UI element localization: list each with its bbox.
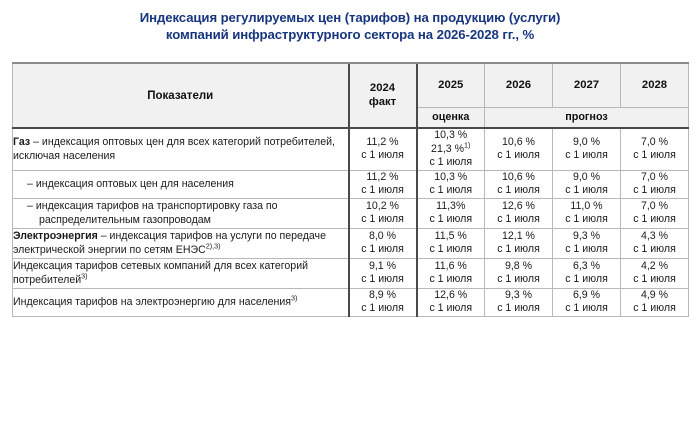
- table-cell: 10,6 %с 1 июля: [485, 170, 553, 198]
- row-label-text: – индексация оптовых цен для всех катего…: [13, 136, 335, 163]
- cell-line: с 1 июля: [621, 302, 688, 316]
- cell-line: с 1 июля: [621, 243, 688, 257]
- column-header-indicators: Показатели: [13, 63, 349, 128]
- cell-line: с 1 июля: [621, 149, 688, 163]
- table-cell: 4,9 %с 1 июля: [621, 288, 689, 316]
- table-cell: 9,8 %с 1 июля: [485, 258, 553, 288]
- indexation-table: Показатели 2024 факт 2025 2026 2027 2028…: [12, 62, 689, 317]
- indexation-table-container: Показатели 2024 факт 2025 2026 2027 2028…: [12, 62, 688, 317]
- cell-line: с 1 июля: [485, 213, 552, 227]
- cell-line: с 1 июля: [418, 156, 485, 170]
- table-row: Электроэнергия – индексация тарифов на у…: [13, 228, 689, 258]
- table-header-row-years: Показатели 2024 факт 2025 2026 2027 2028: [13, 63, 689, 107]
- cell-line: 12,6 %: [418, 289, 485, 303]
- row-label: – индексация оптовых цен для населения: [13, 170, 349, 198]
- cell-line: 9,3 %: [553, 230, 620, 244]
- table-row: Индексация тарифов на электроэнергию для…: [13, 288, 689, 316]
- cell-line: 10,3 %: [418, 129, 485, 143]
- table-cell: 4,2 %с 1 июля: [621, 258, 689, 288]
- table-cell: 11,5 %с 1 июля: [417, 228, 485, 258]
- table-cell: 6,3 %с 1 июля: [553, 258, 621, 288]
- cell-line: с 1 июля: [621, 273, 688, 287]
- row-label-emphasis: Электроэнергия: [13, 230, 98, 242]
- cell-line: 4,2 %: [621, 260, 688, 274]
- cell-line: с 1 июля: [553, 243, 620, 257]
- table-cell: 4,3 %с 1 июля: [621, 228, 689, 258]
- row-label: Индексация тарифов на электроэнергию для…: [13, 288, 349, 316]
- cell-line: 7,0 %: [621, 200, 688, 214]
- table-body: Газ – индексация оптовых цен для всех ка…: [13, 128, 689, 316]
- row-label: Электроэнергия – индексация тарифов на у…: [13, 228, 349, 258]
- column-subheader-estimate: оценка: [417, 107, 485, 128]
- page-root: Индексация регулируемых цен (тарифов) на…: [0, 0, 700, 427]
- table-cell: 9,0 %с 1 июля: [553, 170, 621, 198]
- cell-line: с 1 июля: [418, 273, 485, 287]
- row-label: – индексация тарифов на транспортировку …: [13, 198, 349, 228]
- column-header-2026: 2026: [485, 63, 553, 107]
- table-cell: 10,2 %с 1 июля: [349, 198, 417, 228]
- column-header-2027: 2027: [553, 63, 621, 107]
- cell-line: с 1 июля: [350, 184, 416, 198]
- table-cell: 7,0 %с 1 июля: [621, 128, 689, 170]
- cell-line: с 1 июля: [350, 273, 416, 287]
- row-label-text: – индексация тарифов на транспортировку …: [27, 200, 278, 227]
- cell-line: 9,3 %: [485, 289, 552, 303]
- table-cell: 9,3 %с 1 июля: [553, 228, 621, 258]
- cell-line: 10,3 %: [418, 171, 485, 185]
- row-label: Газ – индексация оптовых цен для всех ка…: [13, 128, 349, 170]
- cell-line: с 1 июля: [553, 149, 620, 163]
- cell-footnote: 1): [464, 140, 470, 149]
- table-cell: 10,3 %21,3 %1)с 1 июля: [417, 128, 485, 170]
- table-row: Газ – индексация оптовых цен для всех ка…: [13, 128, 689, 170]
- cell-line: 7,0 %: [621, 171, 688, 185]
- cell-line: с 1 июля: [350, 149, 416, 163]
- table-cell: 11,0 %с 1 июля: [553, 198, 621, 228]
- table-cell: 7,0 %с 1 июля: [621, 198, 689, 228]
- cell-line: 11,6 %: [418, 260, 485, 274]
- cell-line: с 1 июля: [485, 243, 552, 257]
- table-cell: 8,9 %с 1 июля: [349, 288, 417, 316]
- table-cell: 8,0 %с 1 июля: [349, 228, 417, 258]
- table-row: Индексация тарифов сетевых компаний для …: [13, 258, 689, 288]
- cell-line: с 1 июля: [621, 184, 688, 198]
- cell-line: 8,0 %: [350, 230, 416, 244]
- cell-line: 6,3 %: [553, 260, 620, 274]
- cell-line: 4,9 %: [621, 289, 688, 303]
- row-label-footnote: 3): [291, 293, 297, 302]
- cell-line: с 1 июля: [485, 184, 552, 198]
- cell-line: с 1 июля: [350, 213, 416, 227]
- column-subheader-forecast: прогноз: [485, 107, 689, 128]
- table-cell: 6,9 %с 1 июля: [553, 288, 621, 316]
- cell-line: с 1 июля: [485, 149, 552, 163]
- cell-line: 10,6 %: [485, 171, 552, 185]
- table-cell: 11,2 %с 1 июля: [349, 128, 417, 170]
- cell-line: с 1 июля: [553, 184, 620, 198]
- cell-line: с 1 июля: [621, 213, 688, 227]
- cell-line: 9,0 %: [553, 136, 620, 150]
- cell-line: с 1 июля: [418, 213, 485, 227]
- table-cell: 7,0 %с 1 июля: [621, 170, 689, 198]
- cell-line: 10,6 %: [485, 136, 552, 150]
- cell-line: 11,2 %: [350, 136, 416, 150]
- page-title-line-2: компаний инфраструктурного сектора на 20…: [40, 26, 660, 43]
- cell-line: с 1 июля: [553, 273, 620, 287]
- cell-line: с 1 июля: [553, 213, 620, 227]
- table-cell: 9,1 %с 1 июля: [349, 258, 417, 288]
- cell-line: 7,0 %: [621, 136, 688, 150]
- table-cell: 10,6 %с 1 июля: [485, 128, 553, 170]
- cell-line: 12,1 %: [485, 230, 552, 244]
- cell-line: 11,2 %: [350, 171, 416, 185]
- row-label-text: – индексация оптовых цен для населения: [27, 178, 234, 190]
- cell-line: 21,3 %1): [418, 143, 485, 157]
- row-label-footnote: 2),3): [206, 241, 221, 250]
- column-header-2024-year: 2024: [350, 82, 416, 96]
- cell-line: 11,3%: [418, 200, 485, 214]
- table-header: Показатели 2024 факт 2025 2026 2027 2028…: [13, 63, 689, 128]
- cell-line: с 1 июля: [350, 243, 416, 257]
- table-row: – индексация оптовых цен для населения11…: [13, 170, 689, 198]
- cell-line: 8,9 %: [350, 289, 416, 303]
- column-header-2024-fact: 2024 факт: [349, 63, 417, 128]
- row-label: Индексация тарифов сетевых компаний для …: [13, 258, 349, 288]
- column-header-2028: 2028: [621, 63, 689, 107]
- row-label-emphasis: Газ: [13, 136, 30, 148]
- row-label-footnote: 3): [81, 271, 87, 280]
- page-title-line-1: Индексация регулируемых цен (тарифов) на…: [40, 9, 660, 26]
- cell-line: 12,6 %: [485, 200, 552, 214]
- cell-line: с 1 июля: [418, 243, 485, 257]
- table-cell: 11,6 %с 1 июля: [417, 258, 485, 288]
- cell-line: с 1 июля: [553, 302, 620, 316]
- table-cell: 9,3 %с 1 июля: [485, 288, 553, 316]
- cell-line: с 1 июля: [485, 273, 552, 287]
- cell-line: 4,3 %: [621, 230, 688, 244]
- cell-line: с 1 июля: [350, 302, 416, 316]
- table-cell: 10,3 %с 1 июля: [417, 170, 485, 198]
- cell-line: 9,8 %: [485, 260, 552, 274]
- cell-line: с 1 июля: [485, 302, 552, 316]
- cell-line: 10,2 %: [350, 200, 416, 214]
- cell-line: 9,1 %: [350, 260, 416, 274]
- cell-line: с 1 июля: [418, 302, 485, 316]
- column-header-2025: 2025: [417, 63, 485, 107]
- table-cell: 9,0 %с 1 июля: [553, 128, 621, 170]
- row-label-text: Индексация тарифов сетевых компаний для …: [13, 260, 308, 287]
- row-label-text: Индексация тарифов на электроэнергию для…: [13, 296, 291, 308]
- table-cell: 12,1 %с 1 июля: [485, 228, 553, 258]
- cell-line: 11,0 %: [553, 200, 620, 214]
- table-cell: 12,6 %с 1 июля: [485, 198, 553, 228]
- cell-line: 6,9 %: [553, 289, 620, 303]
- table-cell: 12,6 %с 1 июля: [417, 288, 485, 316]
- cell-line: 9,0 %: [553, 171, 620, 185]
- cell-line: с 1 июля: [418, 184, 485, 198]
- table-row: – индексация тарифов на транспортировку …: [13, 198, 689, 228]
- column-header-2024-kind: факт: [350, 96, 416, 110]
- table-cell: 11,2 %с 1 июля: [349, 170, 417, 198]
- table-cell: 11,3%с 1 июля: [417, 198, 485, 228]
- page-title: Индексация регулируемых цен (тарифов) на…: [0, 0, 700, 43]
- cell-line: 11,5 %: [418, 230, 485, 244]
